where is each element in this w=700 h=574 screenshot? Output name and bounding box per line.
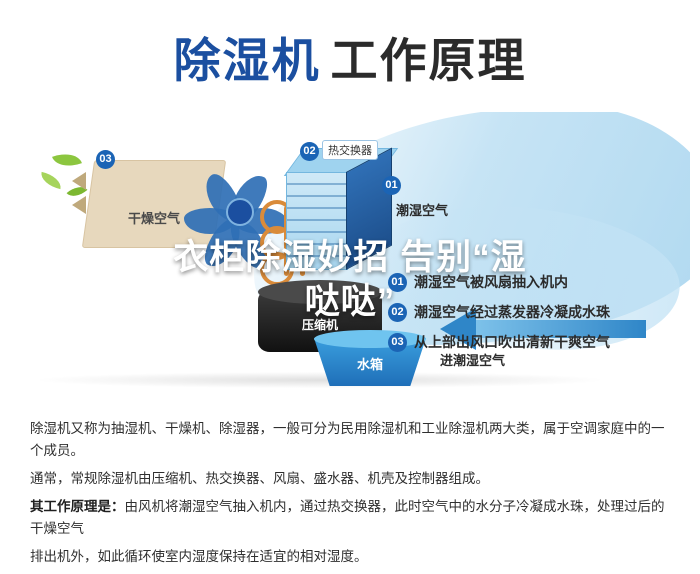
legend-number: 01 [388, 273, 407, 292]
fan-hub [226, 198, 254, 226]
legend-text: 潮湿空气被风扇抽入机内 [414, 272, 568, 292]
page-title-part2: 工作原理 [331, 34, 527, 87]
heat-exchanger-tag: 热交换器 [322, 140, 378, 160]
body-paragraph-4: 排出机外，如此循环使室内湿度保持在适宜的相对湿度。 [30, 546, 672, 568]
legend-number: 03 [388, 333, 407, 352]
body-copy: 除湿机又称为抽湿机、干燥机、除湿器，一般可分为民用除湿机和工业除湿机两大类，属于… [30, 418, 672, 574]
legend-text: 从上部出风口吹出清新干爽空气 [414, 332, 610, 352]
body-paragraph-1: 除湿机又称为抽湿机、干燥机、除湿器，一般可分为民用除湿机和工业除湿机两大类，属于… [30, 418, 672, 462]
body-paragraph-3-text: 由风机将潮湿空气抽入机内，通过热交换器，此时空气中的水分子冷凝成水珠，处理过后的… [30, 499, 665, 536]
infographic-page: 除湿机工作原理 03 干燥空气 [0, 0, 700, 566]
legend-text: 潮湿空气经过蒸发器冷凝成水珠 [414, 302, 610, 322]
moist-air-label: 潮湿空气 [396, 200, 448, 219]
dry-air-arrow-icon [72, 172, 86, 190]
legend-number: 02 [388, 303, 407, 322]
legend-item: 02 潮湿空气经过蒸发器冷凝成水珠 [388, 302, 688, 322]
body-paragraph-3: 其工作原理是：由风机将潮湿空气抽入机内，通过热交换器，此时空气中的水分子冷凝成水… [30, 496, 672, 540]
body-paragraph-3-lead: 其工作原理是： [30, 499, 125, 514]
page-title: 除湿机工作原理 [0, 22, 700, 91]
diagram-badge-02: 02 [300, 142, 319, 161]
body-paragraph-2: 通常，常规除湿机由压缩机、热交换器、风扇、盛水器、机壳及控制器组成。 [30, 468, 672, 490]
dry-air-arrow-icon [72, 196, 86, 214]
steps-legend: 01 潮湿空气被风扇抽入机内 02 潮湿空气经过蒸发器冷凝成水珠 03 从上部出… [388, 272, 688, 362]
leaf-icon [52, 148, 82, 172]
diagram-badge-03: 03 [96, 150, 115, 169]
legend-item: 03 从上部出风口吹出清新干爽空气 [388, 332, 688, 352]
legend-item: 01 潮湿空气被风扇抽入机内 [388, 272, 688, 292]
page-title-part1: 除湿机 [174, 34, 321, 87]
diagram-badge-01: 01 [382, 176, 401, 195]
leaf-icon [39, 172, 63, 189]
